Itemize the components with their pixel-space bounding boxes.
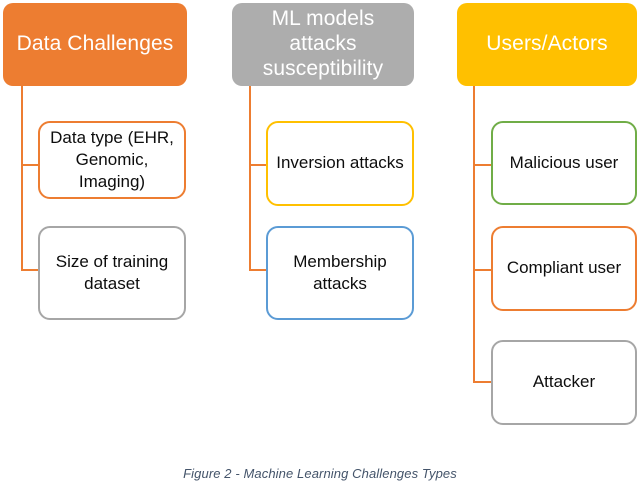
- node-box-malicious-user[interactable]: Malicious user: [491, 121, 637, 205]
- connector-trunk-column-3: [473, 86, 475, 382]
- figure-caption: Figure 2 - Machine Learning Challenges T…: [0, 466, 640, 481]
- node-box-membership-attacks[interactable]: Membership attacks: [266, 226, 414, 320]
- node-label: Membership attacks: [274, 251, 406, 295]
- connector-branch-malicious-user: [473, 164, 492, 166]
- node-label: Compliant user: [507, 257, 621, 279]
- node-box-attacker[interactable]: Attacker: [491, 340, 637, 425]
- header-label: Data Challenges: [17, 32, 174, 57]
- figure-caption-text: Figure 2 - Machine Learning Challenges T…: [183, 466, 457, 481]
- node-box-data-type[interactable]: Data type (EHR, Genomic, Imaging): [38, 121, 186, 199]
- node-box-compliant-user[interactable]: Compliant user: [491, 226, 637, 311]
- header-label: Users/Actors: [486, 32, 607, 57]
- node-label: Size of training dataset: [46, 251, 178, 295]
- connector-branch-compliant-user: [473, 269, 492, 271]
- node-label: Malicious user: [510, 152, 619, 174]
- diagram-canvas: Data Challenges Data type (EHR, Genomic,…: [0, 0, 640, 491]
- header-box-data-challenges[interactable]: Data Challenges: [3, 3, 187, 86]
- connector-branch-attacker: [473, 381, 492, 383]
- node-box-size-of-training-dataset[interactable]: Size of training dataset: [38, 226, 186, 320]
- node-label: Data type (EHR, Genomic, Imaging): [46, 127, 178, 193]
- node-box-inversion-attacks[interactable]: Inversion attacks: [266, 121, 414, 206]
- header-label: ML models attacks susceptibility: [240, 7, 406, 81]
- connector-trunk-column-1: [21, 86, 23, 271]
- header-box-users-actors[interactable]: Users/Actors: [457, 3, 637, 86]
- node-label: Inversion attacks: [276, 152, 404, 174]
- connector-trunk-column-2: [249, 86, 251, 271]
- header-box-ml-models-attacks-susceptibility[interactable]: ML models attacks susceptibility: [232, 3, 414, 86]
- node-label: Attacker: [533, 371, 595, 393]
